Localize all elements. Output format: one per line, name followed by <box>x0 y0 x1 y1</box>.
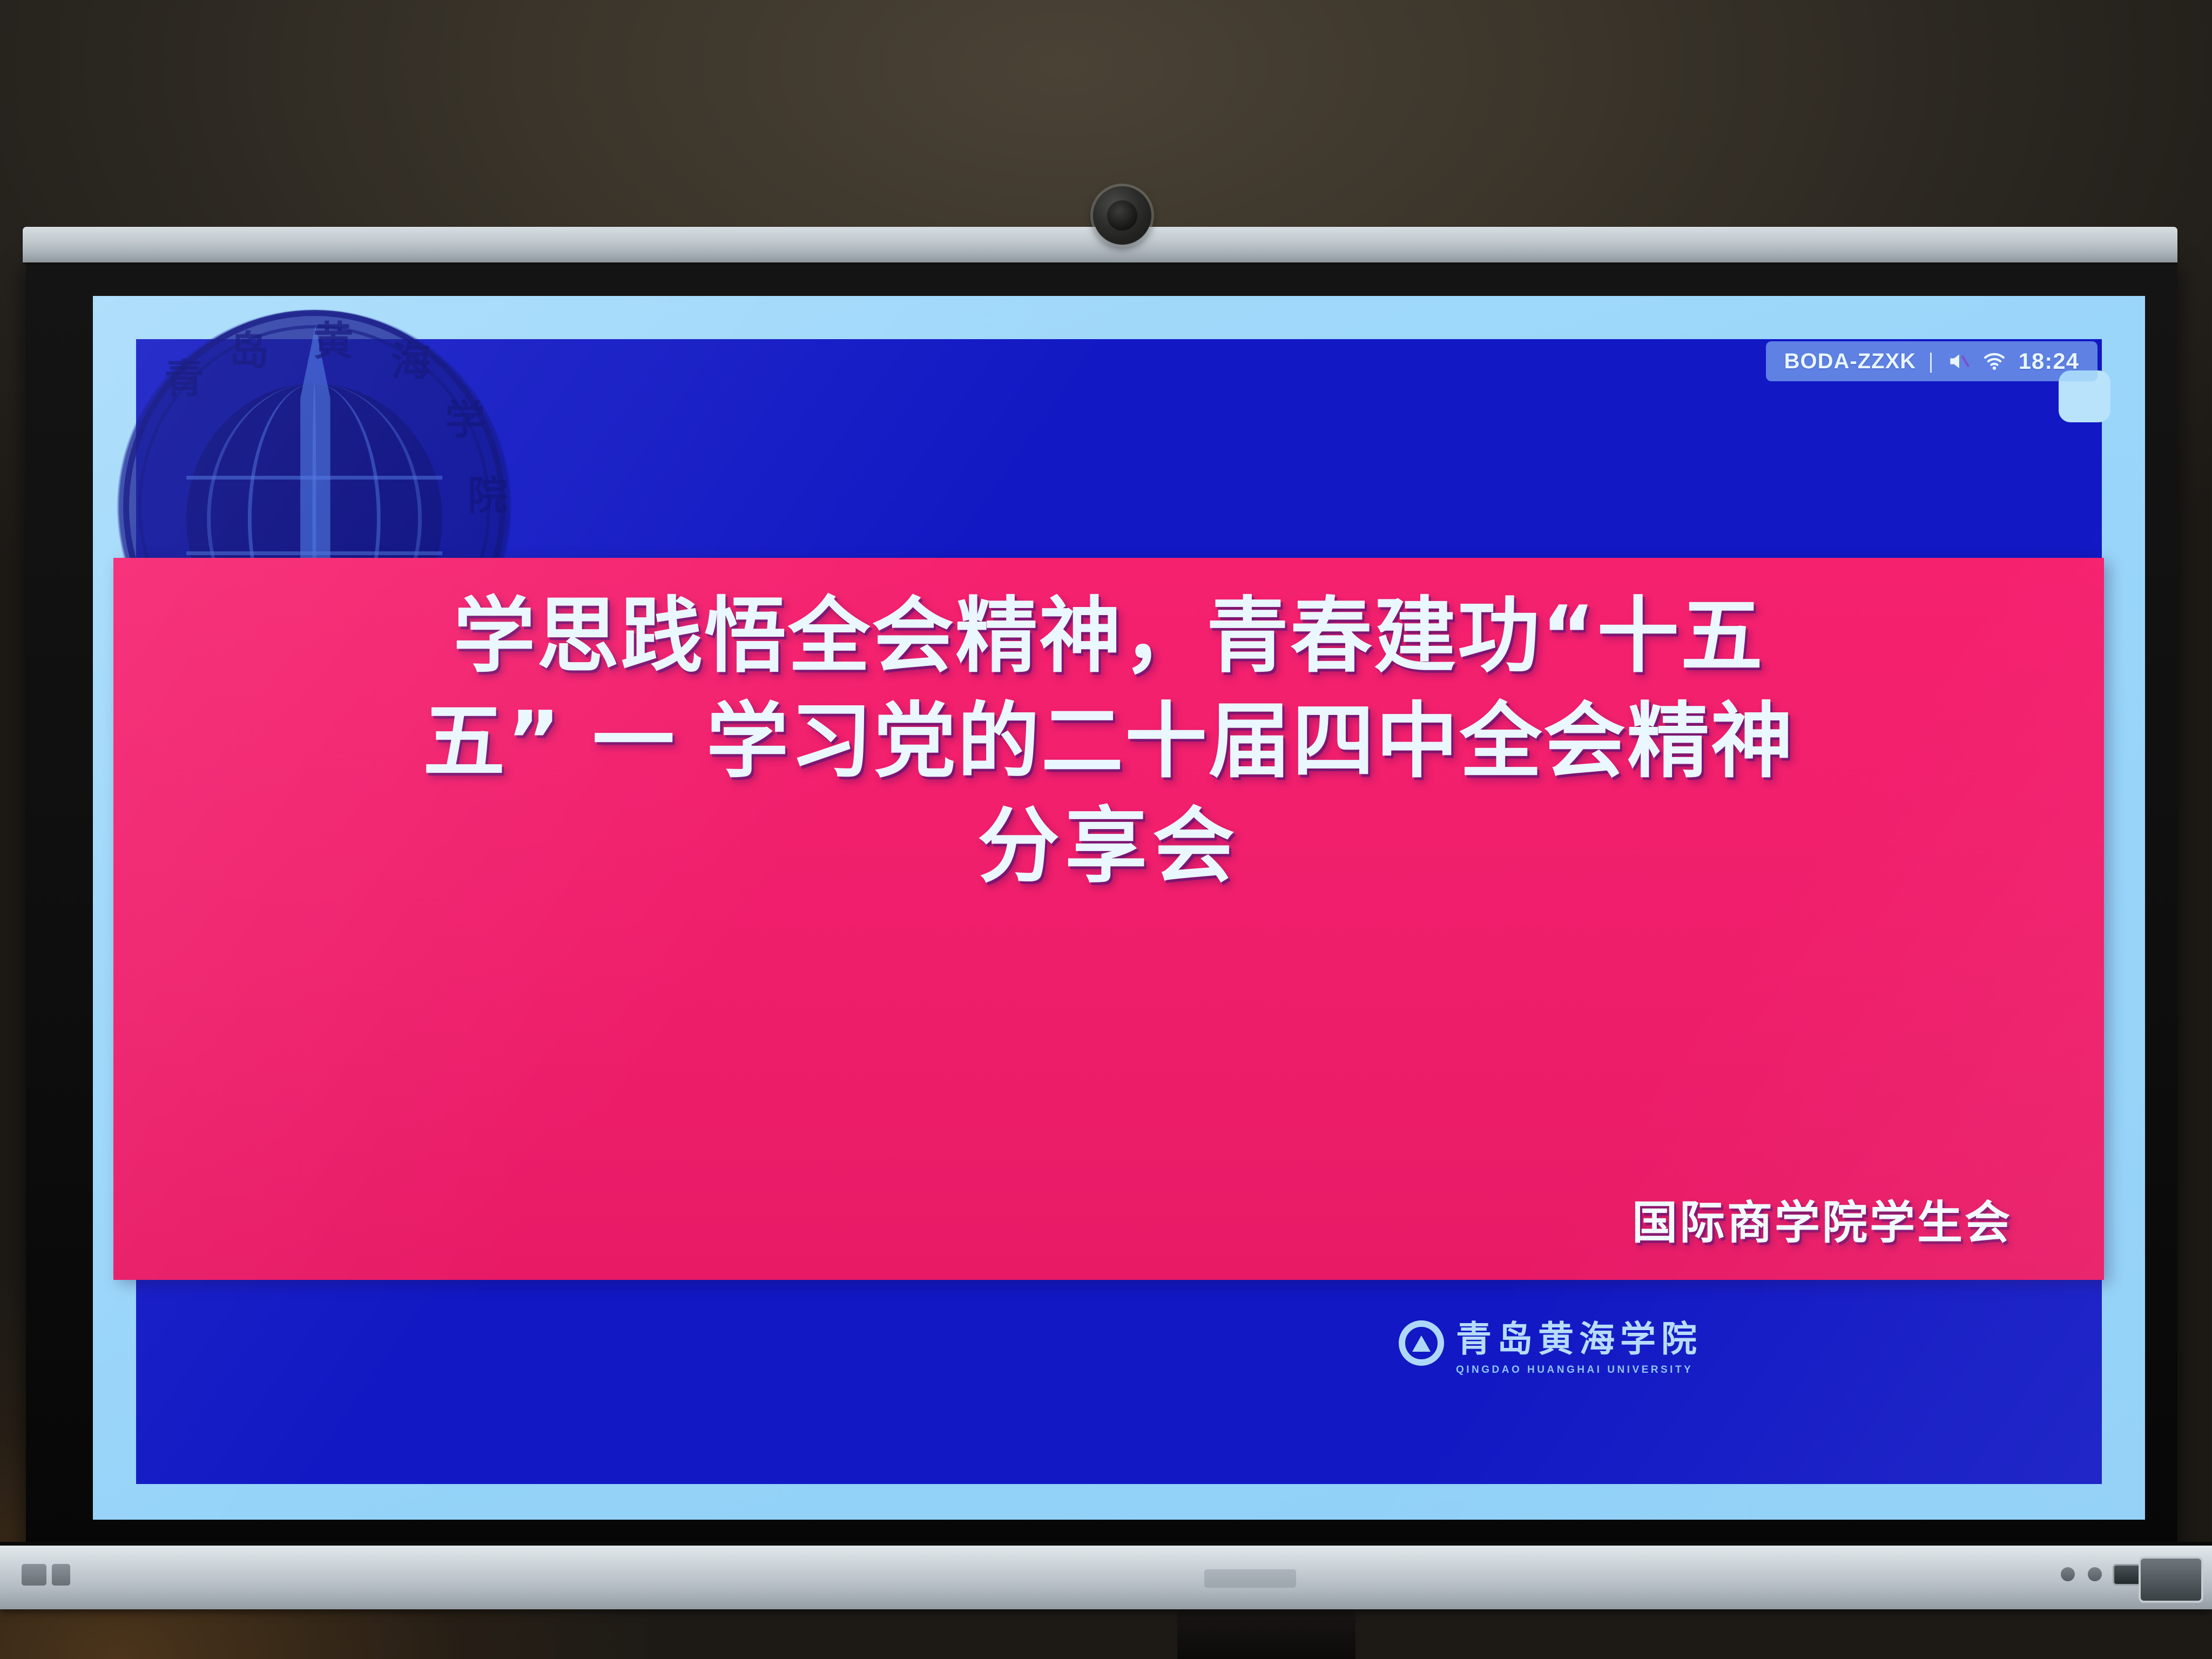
title-line-2: 五” 一 学习党的二十届四中全会精神 <box>113 689 2104 794</box>
title-line-3: 分享会 <box>113 794 2104 899</box>
seal-char: 海 <box>391 329 431 387</box>
clock-label: 18:24 <box>2019 348 2079 374</box>
seal-char: 院 <box>468 463 508 521</box>
room-scene: 青 岛 黄 海 学 院 BODA-ZZXK | <box>0 0 2212 1659</box>
university-name-en: QINGDAO HUANGHAI UNIVERSITY <box>1456 1364 1702 1376</box>
sensor-icon <box>2088 1567 2102 1581</box>
university-mark-icon <box>1399 1320 1444 1366</box>
brand-plate <box>1204 1569 1296 1588</box>
bezel-marking <box>22 1564 46 1586</box>
display-screen[interactable]: 青 岛 黄 海 学 院 BODA-ZZXK | <box>93 296 2145 1520</box>
io-ports-panel[interactable] <box>2139 1556 2203 1603</box>
status-divider: | <box>1928 349 1934 374</box>
power-led-icon <box>2061 1567 2075 1581</box>
camera-lens-icon <box>1107 200 1137 231</box>
display-frame: 青 岛 黄 海 学 院 BODA-ZZXK | <box>26 259 2177 1550</box>
title-line-1: 学思践悟全会精神，青春建功“十五 <box>113 584 2104 689</box>
camera-module <box>1093 186 1151 245</box>
organizer-label: 国际商学院学生会 <box>1632 1186 2012 1252</box>
seal-char: 青 <box>164 347 204 404</box>
display-stand <box>1177 1609 1355 1659</box>
university-name-cn: 青岛黄海学院 <box>1456 1310 1702 1362</box>
speaker-muted-icon[interactable] <box>1946 349 1970 373</box>
university-logo-text: 青岛黄海学院 QINGDAO HUANGHAI UNIVERSITY <box>1456 1310 1702 1376</box>
seal-char: 黄 <box>313 309 353 367</box>
presentation-slide: 青 岛 黄 海 学 院 BODA-ZZXK | <box>136 339 2102 1484</box>
status-bar[interactable]: BODA-ZZXK | <box>1766 341 2098 381</box>
display-bottom-bezel <box>0 1546 2212 1609</box>
wifi-icon[interactable] <box>1982 349 2007 374</box>
network-name-label: BODA-ZZXK <box>1784 349 1917 374</box>
bezel-marking <box>52 1564 70 1586</box>
title-banner: 学思践悟全会精神，青春建功“十五 五” 一 学习党的二十届四中全会精神 分享会 … <box>113 558 2104 1280</box>
page-title: 学思践悟全会精神，青春建功“十五 五” 一 学习党的二十届四中全会精神 分享会 <box>113 584 2104 899</box>
seal-char: 岛 <box>229 319 269 376</box>
seal-char: 学 <box>445 388 485 446</box>
university-logo: 青岛黄海学院 QINGDAO HUANGHAI UNIVERSITY <box>1399 1310 1702 1376</box>
